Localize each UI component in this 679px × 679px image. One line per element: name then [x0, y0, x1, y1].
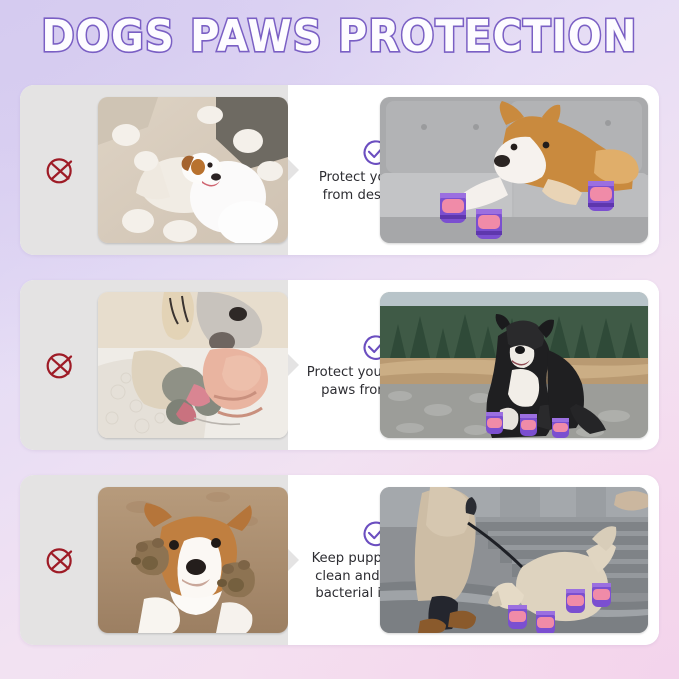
solution-photo — [380, 292, 648, 438]
panel-solution-side: Keep puppy's paws clean and prevent bact… — [288, 475, 659, 645]
arrow-pointer-icon — [288, 549, 299, 571]
benefit-panel: Keep puppy's paws clean and prevent bact… — [20, 475, 659, 645]
panel-solution-side: Protect your sofa from destroying — [288, 85, 659, 255]
circle-x-icon — [43, 153, 77, 187]
problem-photo — [98, 97, 288, 243]
benefit-panel-list: Protect your sofa from destroying — [20, 85, 659, 645]
problem-photo — [98, 292, 288, 438]
circle-x-icon — [43, 543, 77, 577]
benefit-panel: Protect your puppy's paws from harm — [20, 280, 659, 450]
arrow-pointer-icon — [288, 354, 299, 376]
page-title: DOGS PAWS PROTECTION — [41, 12, 637, 62]
solution-photo — [380, 97, 648, 243]
page-title-container: DOGS PAWS PROTECTION — [0, 14, 679, 60]
panel-problem-side — [20, 280, 288, 450]
panel-problem-side — [20, 85, 288, 255]
arrow-pointer-icon — [288, 159, 299, 181]
panel-solution-side: Protect your puppy's paws from harm — [288, 280, 659, 450]
benefit-panel: Protect your sofa from destroying — [20, 85, 659, 255]
solution-photo — [380, 487, 648, 633]
circle-x-icon — [43, 348, 77, 382]
panel-problem-side — [20, 475, 288, 645]
problem-photo — [98, 487, 288, 633]
